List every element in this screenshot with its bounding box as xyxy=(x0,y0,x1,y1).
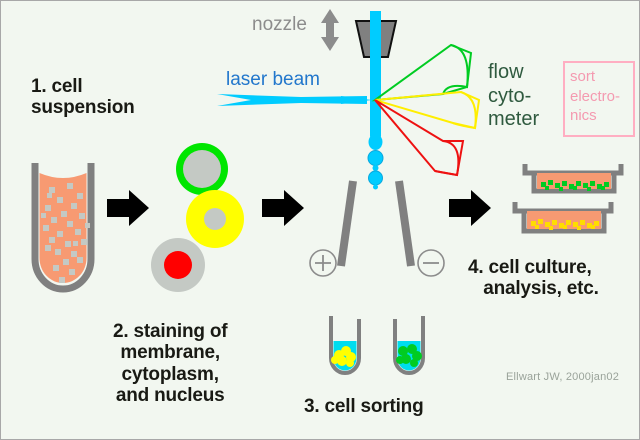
step-2-label: 2. staining of membrane, cytoplasm, and … xyxy=(113,321,227,406)
detector-cone-red xyxy=(375,100,463,175)
laser-beam-graphic xyxy=(217,94,372,106)
cell-membrane-stained xyxy=(176,143,228,195)
stained-cells-group xyxy=(151,143,244,292)
flow-arrow-1 xyxy=(107,190,149,226)
nozzle-label: nozzle xyxy=(252,14,307,35)
credit-label: Ellwart JW, 2000jan02 xyxy=(506,371,619,383)
step-3-label: 3. cell sorting xyxy=(304,396,423,417)
deflection-plates xyxy=(310,181,444,276)
flow-arrow-2 xyxy=(262,190,304,226)
step-4-label: 4. cell culture, analysis, etc. xyxy=(468,257,599,300)
plate-negative-terminal xyxy=(418,250,444,276)
culture-dish-yellow xyxy=(515,202,611,231)
collection-tube-right xyxy=(395,316,423,373)
detector-cones xyxy=(375,45,479,175)
laser-beam-label: laser beam xyxy=(226,69,320,90)
culture-dish-green xyxy=(525,164,621,191)
culture-dishes xyxy=(515,164,621,231)
test-tube-group xyxy=(35,163,91,289)
collection-tube-left xyxy=(331,316,359,373)
flow-arrow-3 xyxy=(449,190,491,226)
flow-cytometry-diagram: nozzle laser beam flow cyto- meter sort … xyxy=(0,0,640,440)
cell-cytoplasm-stained xyxy=(186,190,244,248)
cell-nucleus-stained xyxy=(151,238,205,292)
flow-cytometer-label: flow cyto- meter xyxy=(488,61,539,132)
nozzle-adjust-arrow-icon xyxy=(321,9,339,51)
sort-electronics-label: sort electro- nics xyxy=(570,67,620,126)
collection-tubes xyxy=(331,316,423,373)
plate-positive-terminal xyxy=(310,250,336,276)
step-1-label: 1. cell suspension xyxy=(31,76,135,119)
